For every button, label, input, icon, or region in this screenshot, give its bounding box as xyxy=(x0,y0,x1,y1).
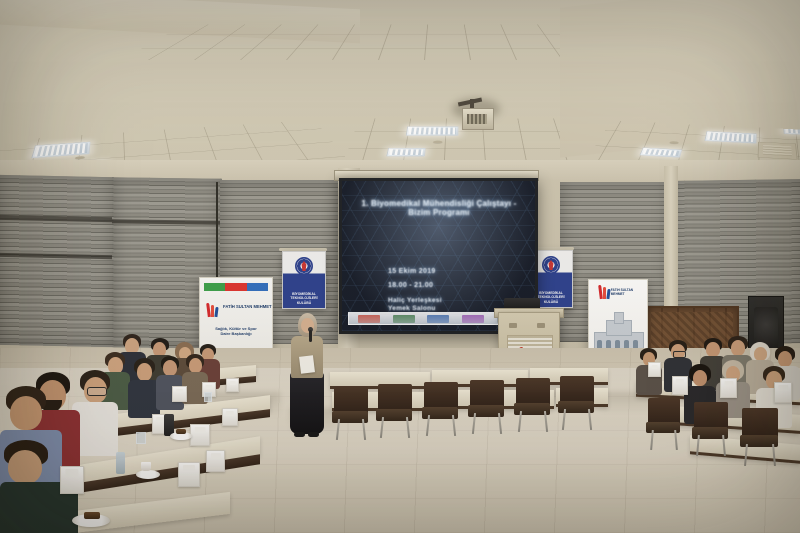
chair[interactable] xyxy=(378,384,412,438)
chair[interactable] xyxy=(334,386,368,440)
fsm-org-name: FATİH SULTAN MEHMET xyxy=(611,289,647,296)
presenter xyxy=(288,310,326,438)
banner-stripe xyxy=(225,283,246,291)
chair[interactable] xyxy=(560,376,594,430)
chair[interactable] xyxy=(516,378,550,432)
sponsor-logo xyxy=(462,315,484,323)
fsm-org-name: FATİH SULTAN MEHMET xyxy=(223,304,272,309)
napkin-holder xyxy=(222,408,238,426)
lectern-fitting xyxy=(537,323,545,328)
banner-stripe xyxy=(204,283,225,291)
fsm-logo-name: FATİH SULTAN MEHMET xyxy=(223,305,272,310)
ceiling-light-panel xyxy=(386,148,426,157)
club-banner-line3: KULÜBÜ xyxy=(285,301,323,305)
hanging-banner-biyomedikal-left: BİYOMEDİKAL TEKNOLOJİLERİ KULÜBÜ xyxy=(282,251,326,309)
napkin-holder xyxy=(226,378,239,392)
ceiling-projector xyxy=(462,108,494,130)
presenter-shoe xyxy=(308,432,319,437)
napkin-holder xyxy=(190,424,210,446)
slide-title: 1. Biyomedikal Mühendisliği Çalıştayı - … xyxy=(350,199,528,217)
napkin-holder xyxy=(172,386,187,402)
lectern-fitting xyxy=(509,323,517,328)
napkin-holder xyxy=(774,382,792,403)
slide-date: 15 Ekim 2019 xyxy=(388,268,436,275)
ceiling-light-panel xyxy=(406,126,459,135)
slide-venue-line1: Haliç Yerleşkesi xyxy=(388,297,442,305)
club-crest-icon xyxy=(295,257,313,275)
cup xyxy=(141,462,151,471)
pastry xyxy=(84,512,100,519)
flame-icon xyxy=(207,298,221,317)
sponsor-logo xyxy=(393,315,415,323)
presenter-skirt xyxy=(290,372,324,434)
napkin-holder xyxy=(648,362,661,377)
napkin-holder xyxy=(206,450,225,472)
plate xyxy=(136,470,160,479)
chair[interactable] xyxy=(470,380,504,434)
banner-stripe xyxy=(247,283,268,291)
eyeglasses xyxy=(673,351,686,358)
banner-department: Sağlık, Kültür ve Spor Daire Başkanlığı xyxy=(205,326,267,337)
building-part xyxy=(614,312,624,324)
chair[interactable] xyxy=(742,408,778,466)
napkin-holder xyxy=(672,376,688,395)
napkin-holder xyxy=(60,466,84,494)
presenter-shoe xyxy=(294,432,305,437)
fsm-logo-small: FATİH SULTAN MEHMET xyxy=(599,286,647,299)
chair[interactable] xyxy=(648,398,680,450)
ceiling xyxy=(0,0,800,185)
club-crest-icon xyxy=(542,256,560,274)
drinking-glass xyxy=(204,392,212,402)
department-line2: Daire Başkanlığı xyxy=(205,331,267,336)
slide-time: 18.00 - 21.00 xyxy=(388,282,433,289)
event-photograph: BİYOMEDİKAL TEKNOLOJİLERİ KULÜBÜ BİYOMED… xyxy=(0,0,800,533)
chair[interactable] xyxy=(424,382,458,436)
pastry xyxy=(176,429,186,434)
fsm-logo: FATİH SULTAN MEHMET xyxy=(207,298,272,317)
microphone xyxy=(309,330,312,342)
sponsor-logo xyxy=(427,315,449,323)
air-vent xyxy=(758,142,798,160)
napkin-holder xyxy=(720,378,737,398)
slide-venue: Haliç Yerleşkesi Yemek Salonu xyxy=(388,297,442,313)
napkin-holder xyxy=(178,462,200,487)
presenter-notes xyxy=(299,355,315,374)
banner-stripe-bar xyxy=(204,283,268,291)
water-bottle xyxy=(116,452,125,474)
eyeglasses xyxy=(87,387,107,396)
drinking-glass xyxy=(136,432,146,444)
chair[interactable] xyxy=(694,402,728,456)
window-blinds xyxy=(0,175,114,347)
sponsor-logo xyxy=(358,315,380,323)
flame-icon xyxy=(599,286,609,299)
